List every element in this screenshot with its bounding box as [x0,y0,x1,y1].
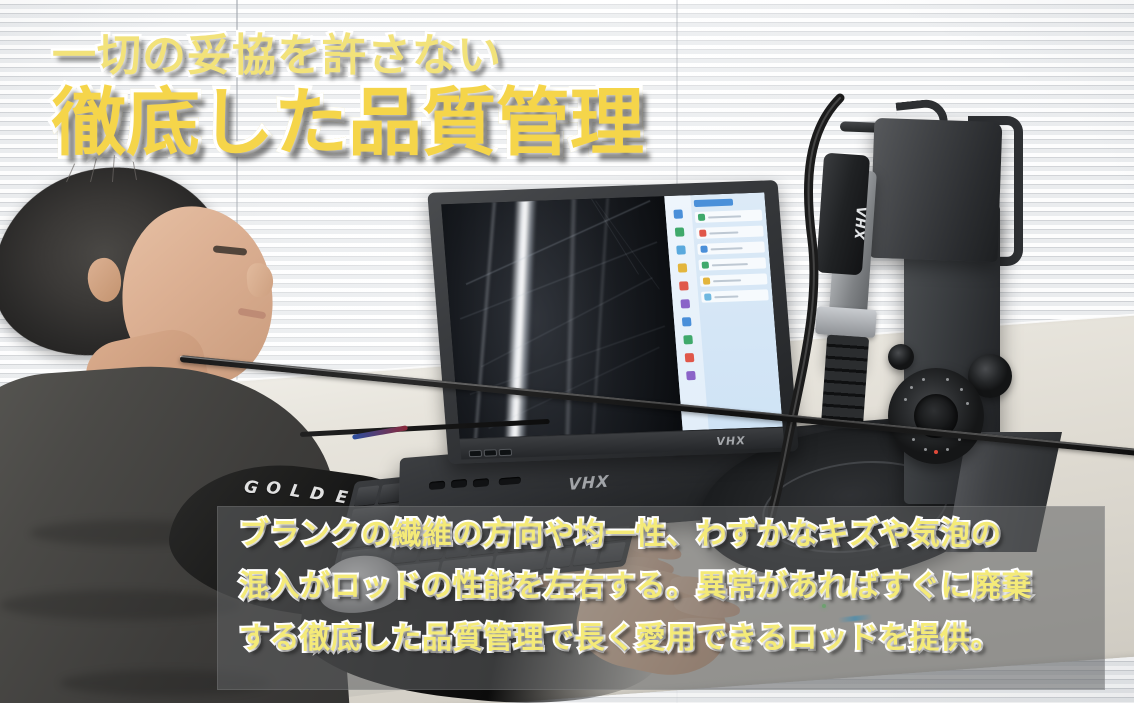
sidebar-icon[interactable] [679,281,689,290]
usb-port [470,451,481,456]
monitor-logo: VHX [716,434,746,448]
headline-line-2: 徹底した品質管理 [52,86,832,160]
software-panel[interactable] [664,192,783,430]
fiber-highlight [503,196,538,438]
list-item-label [708,215,741,218]
focus-index-mark [934,450,938,454]
sidebar-icon[interactable] [674,209,684,218]
list-item-label [712,263,748,266]
caption-box: ブランクの繊維の方向や均一性、わずかなキズや気泡の 混入がロッドの性能を左右する… [217,506,1105,690]
scope-lock-knob[interactable] [888,344,914,370]
scope-lens-collar[interactable] [815,306,877,338]
list-item[interactable] [696,226,764,239]
list-item-label [713,279,741,282]
sidebar-icon[interactable] [681,299,691,308]
sidebar-icon[interactable] [677,245,687,254]
sidebar-icon[interactable] [685,353,695,362]
scope-lens-barrel [821,335,869,430]
sidebar-icon[interactable] [682,317,692,326]
caption-line: 混入がロッドの性能を左右する。異常があればすぐに廃棄 [239,572,1085,602]
list-item[interactable] [701,289,769,302]
list-item[interactable] [700,273,768,286]
list-item-label [709,231,739,234]
banner-image: G O L D E N [0,0,1134,703]
usb-port [485,450,496,455]
scope-focus-dial[interactable] [888,368,984,464]
headline: 一切の妥協を許さない 徹底した品質管理 [52,34,832,160]
list-item-label [714,295,739,298]
software-titlebar [694,199,733,207]
usb-port [500,450,511,455]
list-item-icon [704,293,712,300]
list-item-icon [699,230,707,237]
sidebar-icon[interactable] [678,263,688,272]
list-item-icon [701,262,709,269]
scope-head [870,118,1003,262]
sidebar-icon[interactable] [686,371,696,380]
headline-line-1: 一切の妥協を許さない [52,34,832,78]
list-item[interactable] [698,257,766,270]
list-item-icon [703,277,711,284]
sidebar-icon[interactable] [684,335,694,344]
list-item-icon [698,214,706,221]
caption-line: する徹底した品質管理で長く愛用できるロッドを提供。 [239,624,1085,654]
list-item[interactable] [697,241,765,254]
lens-logo: VHX [810,203,868,237]
list-item[interactable] [695,210,763,223]
caption-line: ブランクの繊維の方向や均一性、わずかなキズや気泡の [239,520,1085,550]
sidebar-icon[interactable] [675,227,685,236]
list-item-label [710,247,742,250]
list-item-icon [700,246,708,253]
